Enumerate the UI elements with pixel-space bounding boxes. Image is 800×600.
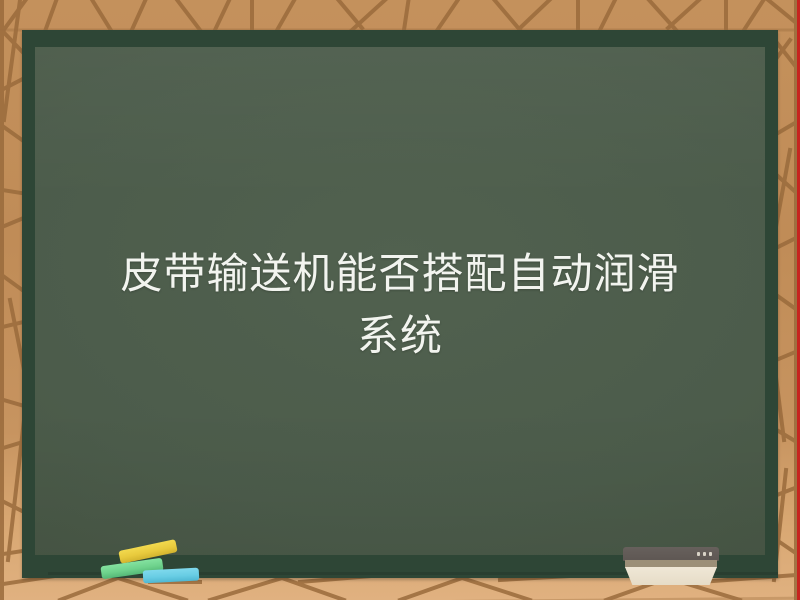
- chalkboard-headline: 皮带输送机能否搭配自动润滑 系统: [35, 243, 765, 367]
- eraser-dots-icon: [697, 552, 712, 556]
- eraser-felt: [625, 567, 717, 585]
- chalkboard-surface: 皮带输送机能否搭配自动润滑 系统: [35, 47, 765, 555]
- eraser-band: [625, 560, 717, 568]
- board-eraser: [623, 547, 719, 585]
- eraser-handle: [623, 547, 719, 561]
- chalkboard-scene: 皮带输送机能否搭配自动润滑 系统: [0, 0, 800, 600]
- chalkboard-frame: 皮带输送机能否搭配自动润滑 系统: [22, 30, 778, 578]
